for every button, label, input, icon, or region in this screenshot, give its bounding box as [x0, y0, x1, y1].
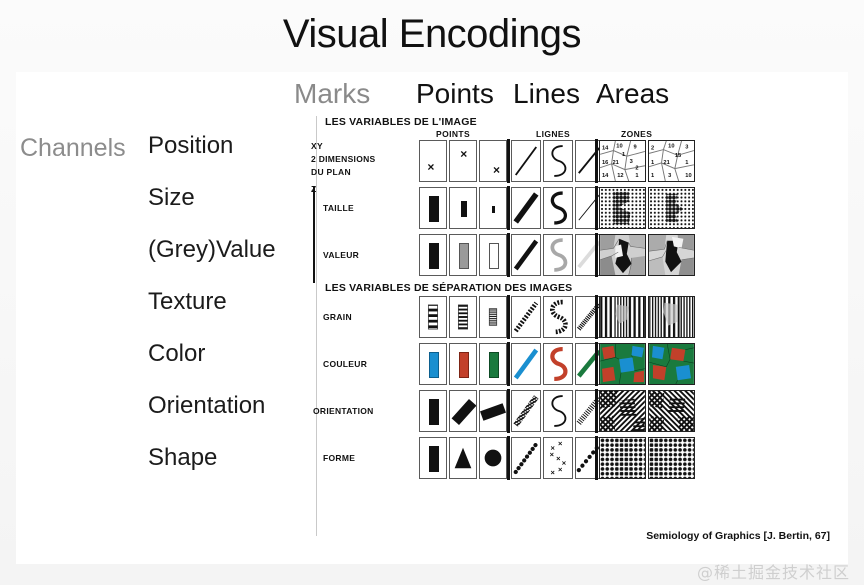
svg-text:1: 1	[651, 173, 655, 179]
bertin-cell: ×	[449, 140, 477, 182]
bertin-cell	[599, 343, 646, 385]
bertin-header-lignes: LIGNES	[536, 129, 570, 139]
bertin-cells-orientation-points	[419, 390, 509, 432]
bertin-cell	[543, 296, 573, 338]
svg-text:×: ×	[551, 468, 556, 477]
bertin-label-xy: XY	[311, 141, 323, 151]
bertin-group-rule	[595, 436, 598, 480]
bertin-cell	[511, 437, 541, 479]
bertin-cell	[599, 437, 646, 479]
bertin-cell	[419, 343, 447, 385]
channels-heading: Channels	[20, 134, 126, 163]
bertin-cell: 14109 1 16213 2 14121	[599, 140, 646, 182]
svg-text:16: 16	[602, 160, 608, 166]
bertin-row-grain: GRAIN	[311, 296, 701, 340]
bertin-group-rule	[507, 139, 510, 183]
svg-text:12: 12	[617, 173, 623, 179]
bertin-cell	[511, 343, 541, 385]
bertin-group-rule	[507, 295, 510, 339]
bertin-cells-valeur-points	[419, 234, 509, 276]
svg-text:×: ×	[550, 450, 555, 459]
bertin-cells-grain-zones	[599, 296, 697, 338]
bertin-group-rule	[595, 233, 598, 277]
bertin-label-2dimensions: 2 DIMENSIONS	[311, 154, 376, 164]
bertin-group-rule	[595, 139, 598, 183]
bertin-cell	[479, 390, 507, 432]
bertin-cells-grain-lines	[511, 296, 607, 338]
bertin-row-forme: FORME ×××××××	[311, 437, 701, 481]
bertin-label-valeur: VALEUR	[323, 250, 359, 260]
bertin-cells-valeur-lines	[511, 234, 607, 276]
svg-text:15: 15	[675, 153, 682, 159]
bertin-cell	[479, 343, 507, 385]
bertin-cell	[648, 437, 695, 479]
bertin-cell	[543, 140, 573, 182]
slide-canvas: Visual Encodings Channels Position Size …	[0, 0, 864, 585]
bertin-group-rule	[507, 389, 510, 433]
channel-item-color: Color	[148, 342, 323, 366]
channel-item-orientation: Orientation	[148, 394, 323, 418]
channel-item-grey-value: (Grey)Value	[148, 238, 323, 262]
bertin-group-rule	[507, 233, 510, 277]
bertin-label-grain: GRAIN	[323, 312, 352, 322]
bertin-cells-forme-zones	[599, 437, 697, 479]
bertin-header-zones: ZONES	[621, 129, 652, 139]
bertin-cell	[479, 187, 507, 229]
bertin-cells-grain-points	[419, 296, 509, 338]
bertin-cell	[543, 390, 573, 432]
bertin-cell	[449, 234, 477, 276]
bertin-cell	[449, 343, 477, 385]
svg-text:×: ×	[493, 163, 500, 177]
bertin-group-rule	[595, 342, 598, 386]
bertin-figure: LES VARIABLES DE L'IMAGE POINTS LIGNES Z…	[311, 116, 701, 536]
bertin-cell	[543, 343, 573, 385]
svg-text:1: 1	[685, 160, 689, 166]
bertin-group-rule	[595, 295, 598, 339]
channel-item-shape: Shape	[148, 446, 323, 470]
bertin-cell	[511, 187, 541, 229]
bertin-cell	[449, 187, 477, 229]
svg-text:21: 21	[663, 160, 670, 166]
bertin-cells-xy-lines	[511, 140, 607, 182]
bertin-cell	[599, 234, 646, 276]
bertin-cell	[449, 390, 477, 432]
bertin-cell	[511, 296, 541, 338]
bertin-section-2-title: LES VARIABLES DE SÉPARATION DES IMAGES	[325, 282, 701, 294]
bertin-cell: ×	[479, 140, 507, 182]
bertin-cells-couleur-zones	[599, 343, 697, 385]
watermark: @稀土掘金技术社区	[697, 559, 850, 583]
svg-text:10: 10	[616, 144, 622, 150]
content-panel: Channels Position Size (Grey)Value Textu…	[16, 72, 848, 564]
bertin-header-points: POINTS	[436, 129, 470, 139]
bertin-cell	[599, 187, 646, 229]
svg-text:×: ×	[558, 465, 563, 474]
bertin-cell	[479, 296, 507, 338]
bertin-section-1-title: LES VARIABLES DE L'IMAGE	[325, 116, 701, 128]
bertin-row-valeur: VALEUR	[311, 234, 701, 278]
bertin-cell	[419, 437, 447, 479]
bertin-group-rule	[595, 186, 598, 230]
bertin-cells-valeur-zones	[599, 234, 697, 276]
bertin-label-taille: TAILLE	[323, 203, 354, 213]
bertin-cell	[648, 296, 695, 338]
bertin-cell	[449, 437, 477, 479]
bertin-cell	[419, 187, 447, 229]
marks-heading: Marks	[294, 78, 370, 110]
bertin-group-rule	[507, 342, 510, 386]
bertin-label-du-plan: DU PLAN	[311, 167, 351, 177]
svg-text:×: ×	[556, 454, 561, 463]
svg-text:×: ×	[562, 458, 567, 467]
bertin-cells-taille-zones	[599, 187, 697, 229]
bertin-cell: 2103 15 1211 1310	[648, 140, 695, 182]
bertin-cells-couleur-points	[419, 343, 509, 385]
bertin-cell	[479, 437, 507, 479]
svg-text:3: 3	[668, 173, 671, 179]
bertin-cells-orientation-lines	[511, 390, 607, 432]
bertin-cell	[543, 234, 573, 276]
bertin-cell	[479, 234, 507, 276]
bertin-row-couleur: COULEUR	[311, 343, 701, 387]
bertin-cell	[419, 296, 447, 338]
svg-text:2: 2	[651, 146, 654, 152]
svg-text:21: 21	[613, 160, 620, 166]
channel-item-position: Position	[148, 134, 323, 158]
bertin-cells-forme-lines: ×××××××	[511, 437, 607, 479]
bertin-cell	[648, 343, 695, 385]
bertin-cell: ×××××××	[543, 437, 573, 479]
bertin-grid-2: GRAIN	[311, 296, 701, 481]
bertin-cell	[648, 390, 695, 432]
bertin-cells-orientation-zones	[599, 390, 697, 432]
svg-text:×: ×	[427, 160, 434, 174]
svg-text:1: 1	[635, 173, 639, 179]
channels-list: Position Size (Grey)Value Texture Color …	[148, 134, 323, 498]
bertin-cell	[599, 390, 646, 432]
bertin-row-xy: XY 2 DIMENSIONS DU PLAN × × ×	[311, 140, 701, 184]
page-title: Visual Encodings	[0, 12, 864, 57]
bertin-cell	[419, 234, 447, 276]
channel-item-size: Size	[148, 186, 323, 210]
bertin-cell	[449, 296, 477, 338]
svg-text:3: 3	[630, 159, 633, 165]
bertin-cell	[543, 187, 573, 229]
bertin-cells-taille-points	[419, 187, 509, 229]
bertin-cell	[511, 390, 541, 432]
svg-text:10: 10	[685, 173, 691, 179]
bertin-cells-xy-zones: 14109 1 16213 2 14121	[599, 140, 697, 182]
svg-text:×: ×	[460, 147, 467, 161]
bertin-row-orientation: ORIENTATION	[311, 390, 701, 434]
mark-column-points: Points	[416, 78, 494, 110]
channel-item-texture: Texture	[148, 290, 323, 314]
bertin-column-headers: POINTS LIGNES ZONES	[311, 129, 701, 140]
bertin-label-couleur: COULEUR	[323, 359, 367, 369]
svg-text:14: 14	[602, 146, 609, 152]
bertin-row-taille: TAILLE	[311, 187, 701, 231]
bertin-cell: ×	[419, 140, 447, 182]
bertin-grid: XY 2 DIMENSIONS DU PLAN × × ×	[311, 140, 701, 278]
bertin-cell	[419, 390, 447, 432]
bertin-cell	[648, 187, 695, 229]
bertin-label-orientation: ORIENTATION	[313, 406, 374, 416]
bertin-cell	[511, 234, 541, 276]
mark-column-areas: Areas	[596, 78, 669, 110]
bertin-group-rule	[507, 186, 510, 230]
bertin-label-forme: FORME	[323, 453, 355, 463]
svg-text:9: 9	[633, 145, 636, 151]
bertin-cells-couleur-lines	[511, 343, 607, 385]
bertin-cells-taille-lines	[511, 187, 607, 229]
figure-caption: Semiology of Graphics [J. Bertin, 67]	[646, 530, 830, 542]
bertin-cells-forme-points	[419, 437, 509, 479]
svg-text:3: 3	[685, 145, 688, 151]
bertin-group-rule	[595, 389, 598, 433]
bertin-cell	[599, 296, 646, 338]
svg-text:2: 2	[635, 166, 638, 172]
bertin-cell	[648, 234, 695, 276]
svg-text:×: ×	[558, 439, 563, 448]
bertin-cells-xy-points: × × ×	[419, 140, 509, 182]
bertin-cell	[511, 140, 541, 182]
bertin-group-rule	[507, 436, 510, 480]
svg-text:10: 10	[668, 144, 674, 150]
mark-column-lines: Lines	[513, 78, 580, 110]
svg-text:14: 14	[602, 173, 609, 179]
